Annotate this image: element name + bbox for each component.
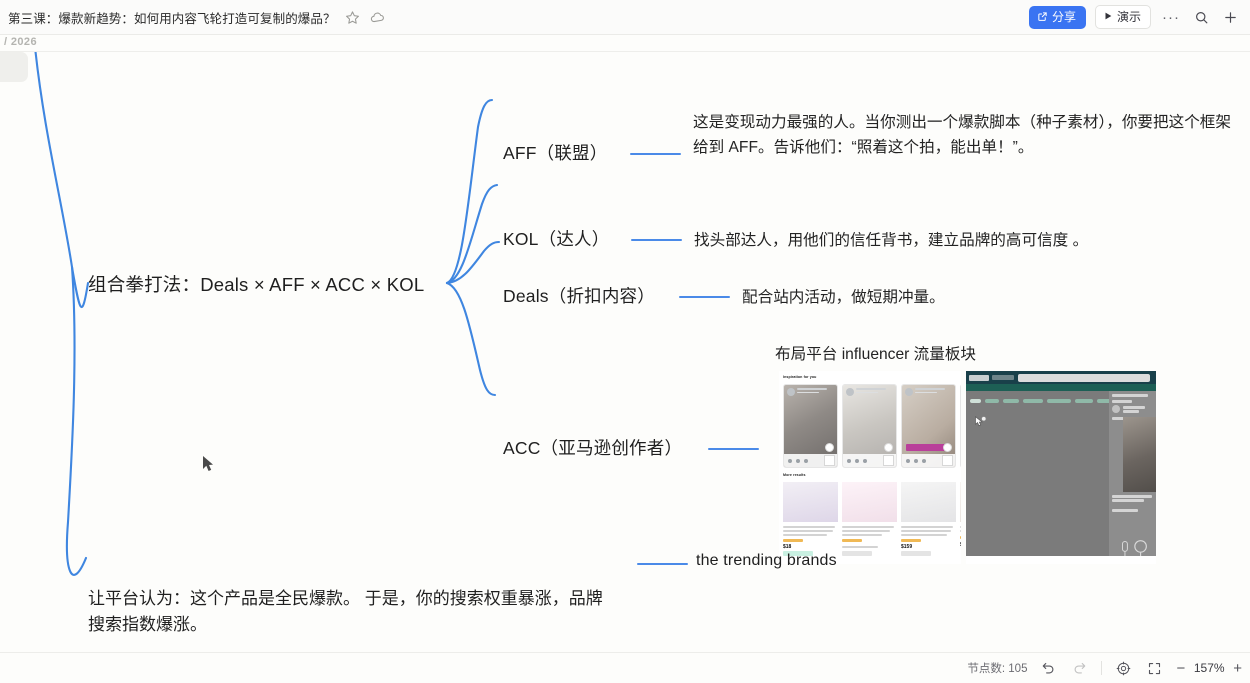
amazon-subnav (966, 384, 1156, 391)
video-card (842, 384, 897, 468)
external-link-icon (1037, 11, 1048, 24)
present-button-label: 演示 (1117, 11, 1141, 23)
mindmap-node-kol[interactable]: KOL（达人） (503, 226, 609, 251)
mindmap-leaf-kol[interactable]: 找头部达人，用他们的信任背书，建立品牌的高可信度 。 (694, 228, 1088, 253)
redo-icon[interactable] (1070, 659, 1089, 678)
feed-heading: Inspiration for you (783, 375, 816, 379)
date-label: 6 / 2026 (0, 36, 37, 48)
product-price: $29 (960, 542, 961, 548)
connector-trending (637, 563, 688, 565)
search-icon[interactable] (1191, 7, 1211, 27)
page-title: 第三课：爆款新趋势：如何用内容飞轮打造可复制的爆品？ (8, 8, 336, 27)
play-icon (1103, 11, 1113, 23)
product-price: $159 (901, 544, 912, 550)
amazon-creator-page-screenshot[interactable] (966, 371, 1156, 564)
zoom-controls: − 157% + (1176, 661, 1242, 676)
amazon-page-body (966, 371, 1156, 564)
mindmap-root-node[interactable]: 组合拳打法：Deals × AFF × ACC × KOL (88, 271, 424, 297)
feed-body: Inspiration for you (779, 371, 961, 564)
product-card (842, 482, 897, 558)
mindmap-app: 第三课：爆款新趋势：如何用内容飞轮打造可复制的爆品？ (0, 0, 1250, 683)
mindmap-node-deals[interactable]: Deals（折扣内容） (503, 283, 655, 308)
mindmap-node-acc[interactable]: ACC（亚马逊创作者） (503, 435, 682, 460)
mouse-cursor-icon (202, 455, 214, 472)
star-icon[interactable] (344, 9, 361, 26)
amazon-navbar (966, 371, 1156, 384)
connector-aff (630, 153, 681, 155)
undo-icon[interactable] (1039, 659, 1058, 678)
more-options-button[interactable]: ··· (1160, 10, 1182, 25)
creator-photo (1123, 417, 1156, 492)
mindmap-image-caption[interactable]: 布局平台 influencer 流量板块 (775, 342, 976, 364)
mindmap-leaf-deals[interactable]: 配合站内活动，做短期冲量。 (742, 285, 945, 310)
cloud-icon[interactable] (369, 9, 386, 26)
zoom-in-button[interactable]: + (1233, 661, 1242, 676)
mindmap-canvas[interactable]: 组合拳打法：Deals × AFF × ACC × KOL AFF（联盟） 这是… (0, 52, 1250, 652)
feed-subheading: More results (783, 473, 806, 477)
node-count-label: 节点数: 105 (967, 660, 1027, 676)
mindmap-node-aff[interactable]: AFF（联盟） (503, 140, 607, 165)
amazon-right-panel (1109, 391, 1156, 556)
amazon-search-bar (1018, 374, 1150, 382)
share-button[interactable]: 分享 (1029, 6, 1086, 29)
toolbar-divider (1101, 661, 1102, 675)
zoom-out-button[interactable]: − (1176, 661, 1185, 676)
present-button[interactable]: 演示 (1095, 5, 1151, 29)
mindmap-leaf-aff[interactable]: 这是变现动力最强的人。当你测出一个爆款脚本（种子素材），你要把这个框架给到 AF… (693, 110, 1238, 161)
product-card-row: $18 (783, 482, 961, 558)
focus-icon[interactable] (1114, 659, 1133, 678)
amazon-inspiration-feed-screenshot[interactable]: Inspiration for you (779, 371, 961, 564)
loading-cursor-icon (974, 416, 988, 427)
toolbar-actions: 分享 演示 ··· (1029, 5, 1250, 29)
video-card-row (783, 384, 961, 468)
plus-icon[interactable] (1220, 7, 1240, 27)
date-strip: 6 / 2026 (0, 35, 1250, 52)
fit-screen-icon[interactable] (1145, 659, 1164, 678)
product-card: $29 (960, 482, 961, 558)
mindmap-bottom-node[interactable]: 让平台认为：这个产品是全民爆款。 于是，你的搜索权重暴涨，品牌搜索指数爆涨。 (88, 586, 618, 639)
delivery-address (992, 375, 1014, 380)
product-price: $18 (783, 544, 791, 550)
document-title-group: 第三课：爆款新趋势：如何用内容飞轮打造可复制的爆品？ (0, 8, 386, 27)
mindmap-leaf-trending[interactable]: the trending brands (696, 552, 837, 570)
video-card (783, 384, 838, 468)
video-card (901, 384, 956, 468)
connector-kol (631, 239, 682, 241)
top-toolbar: 第三课：爆款新趋势：如何用内容飞轮打造可复制的爆品？ (0, 0, 1250, 35)
video-card (960, 384, 961, 468)
connector-acc (708, 448, 759, 450)
product-card: $18 (783, 482, 838, 558)
amazon-page-footer (966, 556, 1156, 564)
connector-deals (679, 296, 730, 298)
share-button-label: 分享 (1052, 11, 1076, 23)
amazon-logo-icon (969, 375, 989, 381)
product-card: $159 (901, 482, 956, 558)
zoom-level-label[interactable]: 157% (1192, 661, 1226, 675)
floating-panel-handle[interactable] (0, 52, 28, 82)
status-bar: 节点数: 105 − 157% + (0, 652, 1250, 683)
